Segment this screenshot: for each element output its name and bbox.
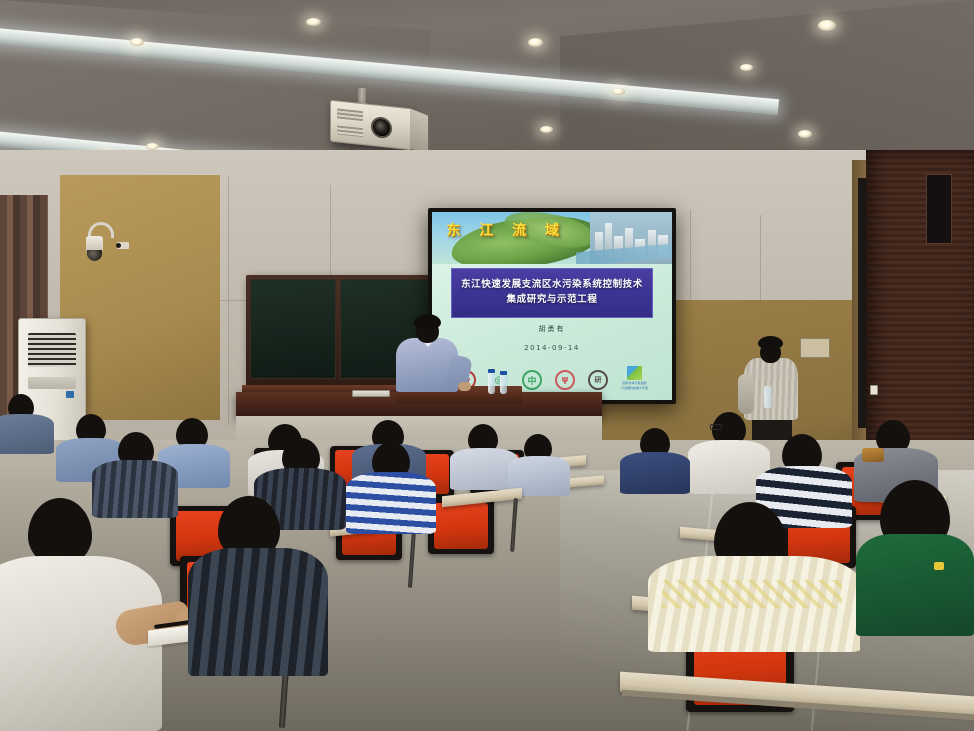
slide-title-line-2: 集成研究与示范工程 [456, 292, 648, 307]
logo-program-mark: 国家水体污染控制 与治理科技重大专项 [621, 366, 648, 390]
standing-man-arm [738, 374, 754, 414]
slide-banner-title: 东 江 流 域 [446, 220, 566, 240]
logo-program-caption-2: 与治理科技重大专项 [621, 386, 648, 390]
ceiling-projector [330, 100, 412, 151]
dome-security-camera [86, 236, 103, 251]
logo-program-icon [627, 366, 642, 380]
water-bottle-cap [934, 562, 944, 570]
wall-recess-panel [926, 174, 952, 244]
downlight-icon [130, 38, 144, 46]
projector-vent [337, 125, 363, 137]
presenter-hair [414, 314, 441, 329]
ac-control-panel [28, 377, 76, 389]
light-switch[interactable] [870, 385, 878, 395]
downlight-icon [798, 130, 812, 138]
chalkboard-panel [250, 279, 336, 379]
bullet-camera-lens-icon [116, 243, 121, 248]
attendee-torso [92, 460, 178, 518]
attendee-torso [0, 414, 54, 454]
downlight-icon [540, 126, 553, 133]
attendee-torso [856, 534, 974, 636]
attendee-torso [188, 548, 328, 676]
attendee-torso [346, 472, 436, 534]
water-bottle [488, 372, 495, 394]
eyeglasses-icon [710, 424, 722, 430]
slide-title-line-1: 东江快速发展支流区水污染系统控制技术 [456, 277, 648, 292]
slide-date: 2014-09-14 [432, 344, 672, 352]
downlight-icon [528, 38, 543, 47]
standing-man-hair [758, 336, 783, 349]
logo-program-caption-1: 国家水体污染控制 [622, 381, 646, 385]
attendee-torso [620, 452, 690, 494]
ac-air-grille [28, 333, 76, 367]
attendee-cardigan-pattern [662, 580, 842, 608]
water-bottle [500, 374, 507, 394]
projector-side-face [410, 108, 428, 155]
held-water-bottle [764, 386, 772, 408]
slide-presenter-name: 胡勇有 [432, 324, 672, 334]
wall-sign [800, 338, 830, 358]
logo-pink-circle: ψ [555, 370, 575, 390]
logo-green-circle: 中 [522, 370, 542, 390]
presenter-hand [458, 382, 471, 391]
downlight-icon [146, 143, 159, 150]
projector-vent [337, 108, 363, 121]
ac-brand-badge [66, 391, 74, 398]
chair-cushion [434, 503, 488, 549]
logo-grey-circle: 研 [588, 370, 608, 390]
downlight-icon [740, 64, 753, 71]
handbag [862, 448, 884, 462]
laptop-on-podium [352, 390, 390, 397]
water-bottle-cap [500, 371, 507, 375]
projector-lens-icon [371, 116, 392, 139]
conference-room-photo: 东 江 流 域 东江快速发展支流区水污染系统控制技术 集成研究与示范工程 胡勇有… [0, 0, 974, 731]
slide-title-band: 东江快速发展支流区水污染系统控制技术 集成研究与示范工程 [451, 268, 653, 318]
chair[interactable] [428, 498, 494, 554]
downlight-icon [818, 20, 836, 31]
slide-banner-image: 东 江 流 域 [432, 212, 672, 264]
downlight-icon [306, 18, 321, 26]
downlight-icon [612, 88, 625, 95]
water-bottle-cap [488, 369, 495, 373]
